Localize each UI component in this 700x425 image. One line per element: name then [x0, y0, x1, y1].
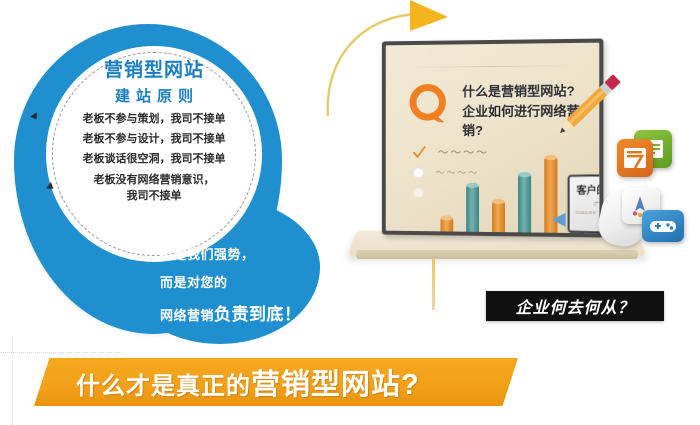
success-card-headline: 客户的成功: [577, 182, 600, 198]
banner-prefix-text: 什么才是真正的: [76, 373, 251, 400]
document-7-icon[interactable]: [617, 139, 653, 177]
slogan-line-1: 不是我们强势，: [160, 244, 330, 263]
chart-bar: [518, 172, 531, 233]
success-card-english: Customer success is our success: [576, 210, 600, 216]
black-label-text: 企业何去何从？: [515, 294, 634, 318]
guide-line-horizontal: [0, 352, 122, 353]
principle-item: 我司不接单: [127, 189, 182, 204]
chart-bar: [440, 215, 453, 233]
radio-empty-icon: [413, 186, 424, 197]
board-stem: [432, 258, 435, 310]
bubble-subtitle: 建站原则: [109, 85, 199, 106]
radio-empty-icon: [413, 166, 424, 177]
blob-slogan: 不是我们强势， 而是对您的 网络营销负责到底！: [160, 244, 330, 325]
pencil-icon: [540, 52, 640, 152]
slogan-line-3-small: 网络营销: [160, 308, 214, 323]
chart-bar: [492, 199, 505, 233]
board-base-edge: [356, 250, 638, 259]
success-card-subline: 才是我们的成功: [593, 199, 599, 209]
banner-emphasis-text: 营销型网站?: [251, 369, 420, 401]
headline-banner: 什么才是真正的营销型网站?: [34, 358, 518, 406]
slogan-line-3-emphasis: 负责到底！: [214, 305, 302, 324]
principle-item: 老板不参与设计，我司不接单: [83, 133, 226, 146]
q-logo-icon: [407, 82, 452, 128]
success-card: 客户的成功 才是我们的成功 Customer success is our su…: [568, 174, 599, 233]
poster-canvas: 营销型网站 建站原则 老板不参与策划，我司不接单 老板不参与设计，我司不接单 老…: [0, 0, 700, 425]
principle-item: 老板不参与策划，我司不接单: [83, 113, 226, 126]
principle-item: 老板谈话很空洞，我司不接单: [83, 153, 226, 166]
gamepad-icon[interactable]: [642, 210, 684, 242]
check-icon: [413, 145, 426, 158]
guide-line-vertical: [12, 336, 13, 425]
card-pointer-icon: [552, 213, 565, 227]
chart-bar: [466, 183, 479, 234]
status-badge: 企业何去何从？: [486, 291, 664, 321]
slogan-line-3: 网络营销负责到底！: [160, 300, 330, 325]
slogan-line-2: 而是对您的: [160, 272, 330, 291]
bubble-title: 营销型网站: [104, 60, 204, 82]
principle-item: 老板没有网络营销意识，: [94, 173, 215, 188]
